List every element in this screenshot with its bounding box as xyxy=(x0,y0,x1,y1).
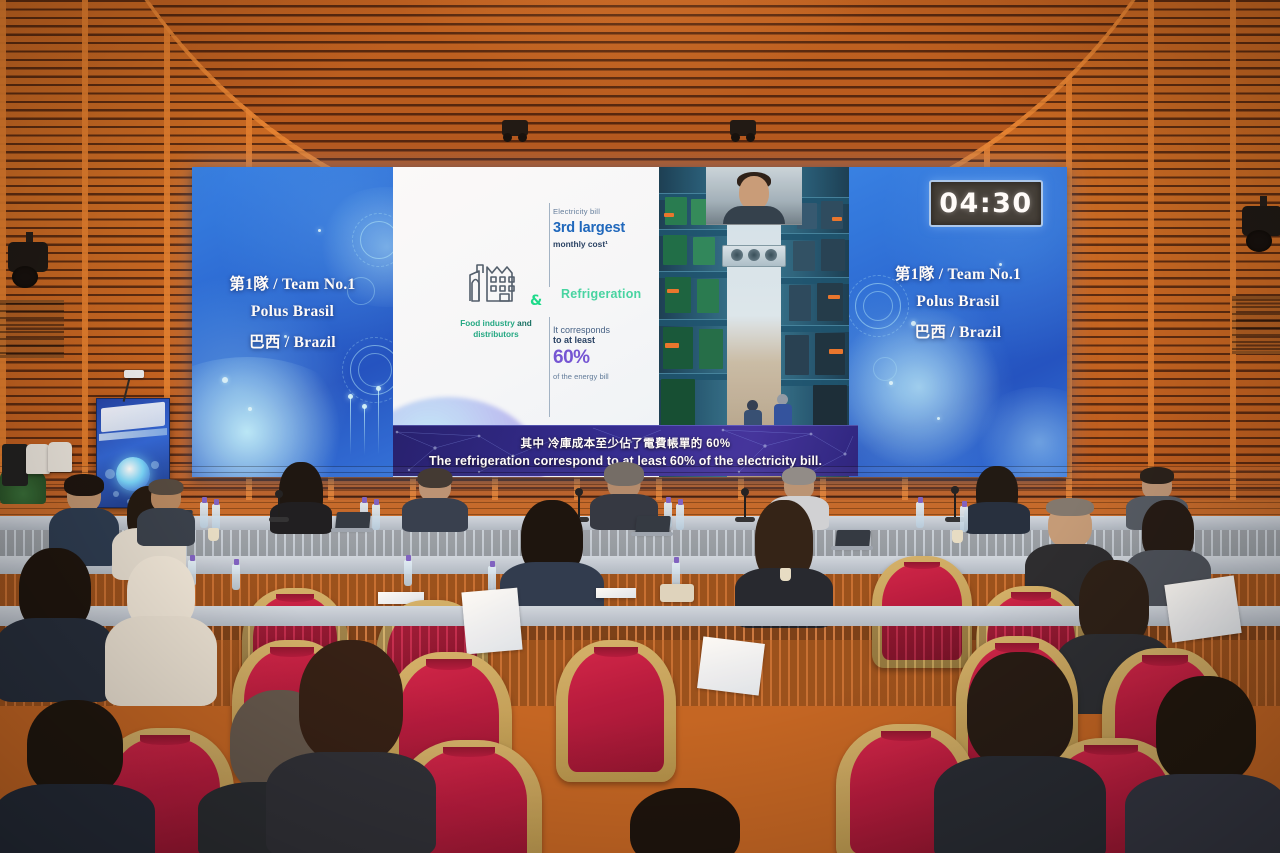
water-bottle xyxy=(404,560,412,586)
water-bottle xyxy=(212,504,220,530)
presenter-webcam-overlay xyxy=(706,167,802,225)
team-line-1: 第1隊 / Team No.1 xyxy=(192,272,393,294)
slide-divider-top xyxy=(549,203,550,287)
water-bottle xyxy=(676,504,684,530)
drinking-cup xyxy=(208,528,219,541)
drinking-cup xyxy=(952,530,963,543)
countdown-timer: 04:30 xyxy=(929,180,1043,227)
control-booth-window-right xyxy=(1232,296,1280,354)
team-line-2: Polus Brasil xyxy=(849,293,1067,311)
team-line-3: 巴西 / Brazil xyxy=(849,320,1067,342)
folded-item xyxy=(660,584,694,602)
caption-part-bold: and xyxy=(517,319,532,328)
screen-right-team-panel: 04:30 第1隊 / Team No.1 Polus Brasil 巴西 / … xyxy=(849,167,1067,477)
audience-person xyxy=(0,548,110,698)
right-team-caption: 第1隊 / Team No.1 Polus Brasil 巴西 / Brazil xyxy=(849,253,1067,351)
cooling-fan-unit xyxy=(722,245,786,267)
monthly-cost-label: monthly cost¹ xyxy=(553,239,659,249)
laptop xyxy=(635,516,671,533)
wall-camera-left xyxy=(2,232,56,294)
slide-divider-bottom xyxy=(549,317,550,417)
caption-part-2: distributors xyxy=(473,330,519,339)
team-line-2: Polus Brasil xyxy=(192,303,393,321)
control-booth-window-left xyxy=(0,300,64,358)
wall-camera-right xyxy=(1236,196,1280,258)
refrigeration-label: Refrigeration xyxy=(561,287,659,301)
audience-person xyxy=(108,556,214,702)
audience-person xyxy=(404,470,466,530)
audience-chair xyxy=(556,640,676,782)
corresponds-line-1: It corresponds xyxy=(553,325,659,335)
refrigeration-label-group: Refrigeration xyxy=(561,287,659,301)
factory-icon xyxy=(467,253,525,303)
slide-block-percentage: It corresponds to at least 60% of the en… xyxy=(553,325,659,381)
document-papers xyxy=(1164,575,1241,642)
led-presentation-screen: 第1隊 / Team No.1 Polus Brasil 巴西 / Brazil xyxy=(192,167,1067,477)
water-bottle xyxy=(488,566,496,592)
ceiling-spotlight xyxy=(730,120,756,136)
caption-part-1: Food industry xyxy=(460,319,517,328)
audience-person xyxy=(966,466,1028,528)
team-line-3: 巴西 / Brazil xyxy=(192,330,393,352)
subtitle-chinese: 其中 冷庫成本至少佔了電費帳單的 60% xyxy=(521,435,731,451)
electricity-bill-label: Electricity bill xyxy=(553,207,659,216)
corresponds-line-2: to at least xyxy=(553,335,659,345)
document-papers xyxy=(461,588,522,655)
audience-person-foreground xyxy=(940,652,1100,853)
water-bottle xyxy=(200,502,208,528)
screen-left-team-panel: 第1隊 / Team No.1 Polus Brasil 巴西 / Brazil xyxy=(192,167,393,477)
audience-person-foreground xyxy=(0,700,150,853)
water-bottle xyxy=(232,564,240,590)
ceiling-spotlight xyxy=(502,120,528,136)
water-bottle xyxy=(960,506,968,532)
team-line-1: 第1隊 / Team No.1 xyxy=(849,262,1067,284)
audience-person xyxy=(138,482,194,542)
audience-person xyxy=(738,500,830,620)
ampersand-symbol: & xyxy=(530,293,542,309)
conference-hall-photo: 第1隊 / Team No.1 Polus Brasil 巴西 / Brazil xyxy=(0,0,1280,853)
timer-value: 04:30 xyxy=(939,188,1032,219)
drinking-cup xyxy=(780,568,791,581)
document-papers xyxy=(697,636,765,695)
table-microphone xyxy=(954,492,956,518)
water-bottle xyxy=(372,504,380,530)
energy-bill-footer: of the energy bill xyxy=(553,372,659,381)
audience-person-foreground xyxy=(272,640,430,853)
water-bottle xyxy=(916,502,924,528)
left-team-caption: 第1隊 / Team No.1 Polus Brasil 巴西 / Brazil xyxy=(192,263,393,361)
percentage-figure: 60% xyxy=(553,347,659,369)
audience-person-foreground xyxy=(1130,676,1280,853)
laptop xyxy=(835,530,871,547)
slide-block-electricity: Electricity bill 3rd largest monthly cos… xyxy=(553,207,659,249)
table-microphone xyxy=(278,496,280,518)
third-largest-headline: 3rd largest xyxy=(553,220,659,236)
audience-person-foreground xyxy=(604,788,766,853)
podium-microphone xyxy=(124,370,144,378)
document-papers xyxy=(596,588,636,598)
laptop xyxy=(335,512,371,529)
